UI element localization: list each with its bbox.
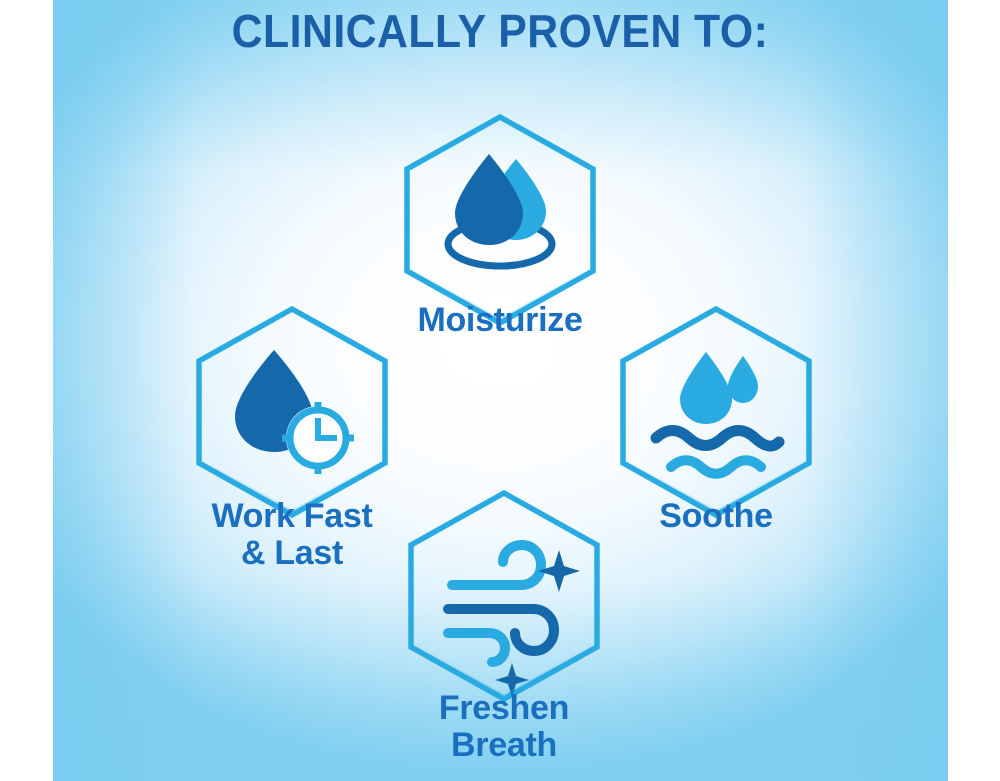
hexagon-frame-work-fast-and-last <box>192 304 392 520</box>
benefit-label-freshen-breath: Freshen Breath <box>344 690 664 763</box>
droplet-clock-icon <box>235 350 354 474</box>
water-droplets-ripple-icon <box>448 154 552 266</box>
benefit-tile-soothe[interactable] <box>616 304 816 520</box>
hexagon-frame-freshen-breath <box>404 488 604 704</box>
benefit-tile-moisturize[interactable] <box>400 112 600 328</box>
promo-graphic: CLINICALLY PROVEN TO: Moisturize <box>0 0 1000 781</box>
hexagon-frame-moisturize <box>400 112 600 328</box>
droplets-waves-icon <box>656 352 779 474</box>
benefit-tile-work-fast-and-last[interactable] <box>192 304 392 520</box>
page-title: CLINICALLY PROVEN TO: <box>35 6 965 57</box>
wind-sparkle-icon <box>448 545 580 697</box>
hexagon-frame-soothe <box>616 304 816 520</box>
benefit-tile-freshen-breath[interactable] <box>404 488 604 704</box>
benefit-label-soothe: Soothe <box>556 498 876 535</box>
